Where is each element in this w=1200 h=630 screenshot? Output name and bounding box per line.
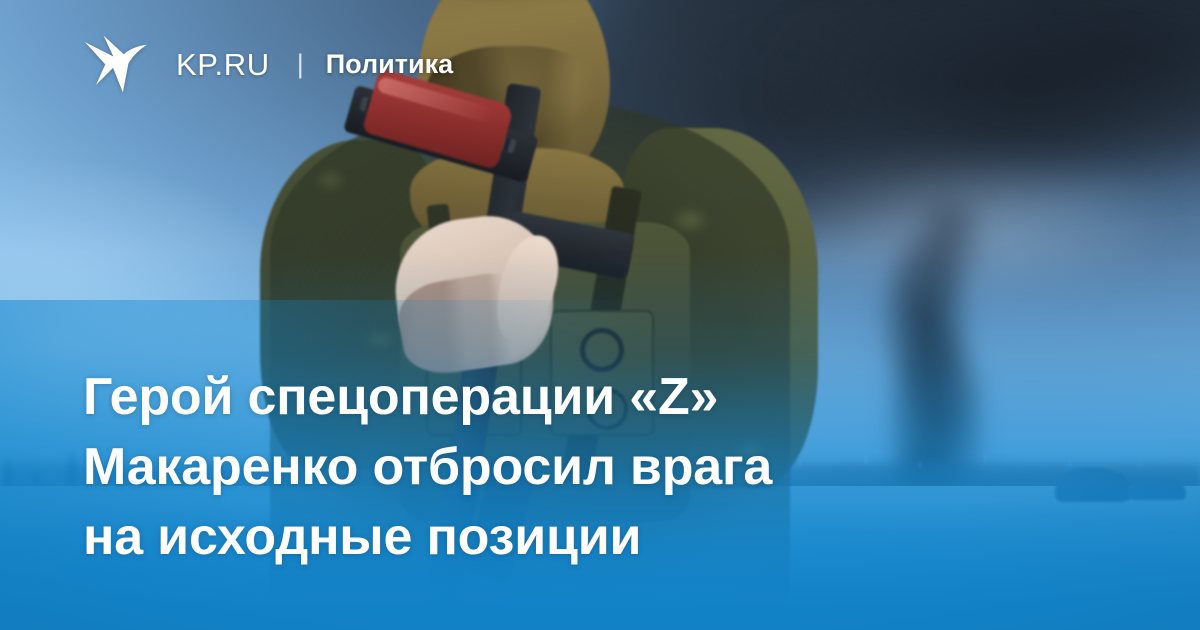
headline: Герой спецоперации «Z» Макаренко отброси… bbox=[83, 362, 903, 572]
card-header: KP.RU | Политика bbox=[83, 34, 453, 94]
headline-line-1: Герой спецоперации «Z» bbox=[83, 362, 903, 432]
share-card: KP.RU | Политика Герой спецоперации «Z» … bbox=[0, 0, 1200, 630]
headline-line-2: Макаренко отбросил врага bbox=[83, 432, 903, 502]
brand-label: KP.RU bbox=[176, 49, 270, 80]
swallow-bird-icon[interactable] bbox=[83, 34, 149, 94]
headline-line-3: на исходные позиции bbox=[83, 502, 903, 572]
header-divider: | bbox=[297, 51, 304, 78]
rubric-label[interactable]: Политика bbox=[326, 51, 453, 78]
